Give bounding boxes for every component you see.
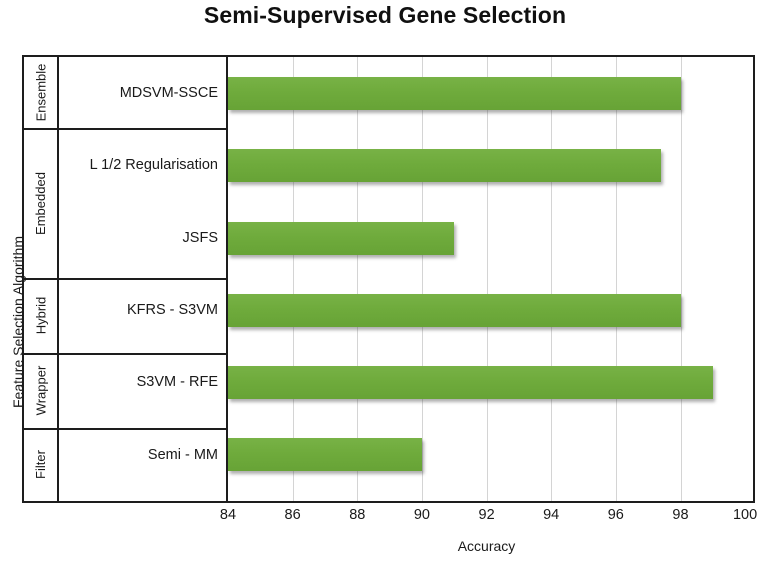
bar-kfrs-s3vm[interactable]	[228, 294, 681, 327]
gridline-98	[681, 57, 682, 501]
category-label-semi-mm: Semi - MM	[148, 445, 218, 465]
group-label-embedded-text: Embedded	[33, 172, 48, 235]
group-label-filter-text: Filter	[33, 450, 48, 479]
bar-semi-mm[interactable]	[228, 438, 422, 471]
group-label-wrapper-text: Wrapper	[33, 366, 48, 416]
bar-mdsvm-ssce[interactable]	[228, 77, 681, 110]
x-axis-tick-labels: 84 86 88 90 92 94 96 98 100	[0, 507, 770, 529]
gridline-86	[293, 57, 294, 501]
gridline-94	[551, 57, 552, 501]
category-axis-panel: Ensemble Embedded Hybrid Wrapper Filter …	[24, 57, 228, 501]
group-label-wrapper: Wrapper	[24, 353, 57, 428]
x-tick-88: 88	[327, 507, 387, 523]
group-label-ensemble: Ensemble	[24, 57, 57, 128]
x-tick-94: 94	[521, 507, 581, 523]
gridline-88	[357, 57, 358, 501]
gridline-96	[616, 57, 617, 501]
gridline-90	[422, 57, 423, 501]
x-tick-86: 86	[263, 507, 323, 523]
chart-title: Semi-Supervised Gene Selection	[0, 2, 770, 29]
x-tick-96: 96	[586, 507, 646, 523]
chart-plot-area	[228, 57, 753, 501]
category-label-s3vm-rfe: S3VM - RFE	[137, 372, 218, 392]
bar-jsfs[interactable]	[228, 222, 454, 255]
x-tick-90: 90	[392, 507, 452, 523]
x-tick-98: 98	[651, 507, 711, 523]
group-label-hybrid: Hybrid	[24, 278, 57, 353]
group-label-embedded: Embedded	[24, 128, 57, 278]
x-axis-title: Accuracy	[228, 538, 745, 554]
group-label-hybrid-text: Hybrid	[33, 297, 48, 335]
gridline-92	[487, 57, 488, 501]
category-label-mdsvm-ssce: MDSVM-SSCE	[120, 83, 218, 103]
category-label-l12-regularisation: L 1/2 Regularisation	[90, 155, 218, 175]
category-label-jsfs: JSFS	[183, 228, 218, 248]
x-tick-92: 92	[457, 507, 517, 523]
bar-l12-regularisation[interactable]	[228, 149, 661, 182]
bar-s3vm-rfe[interactable]	[228, 366, 713, 399]
group-label-ensemble-text: Ensemble	[33, 64, 48, 122]
category-label-kfrs-s3vm: KFRS - S3VM	[127, 300, 218, 320]
chart-plot-frame: Ensemble Embedded Hybrid Wrapper Filter …	[22, 55, 755, 503]
y-axis-title: Feature Selection Algorithm	[10, 152, 26, 492]
group-label-filter: Filter	[24, 428, 57, 501]
x-tick-100: 100	[715, 507, 770, 523]
x-tick-84: 84	[198, 507, 258, 523]
